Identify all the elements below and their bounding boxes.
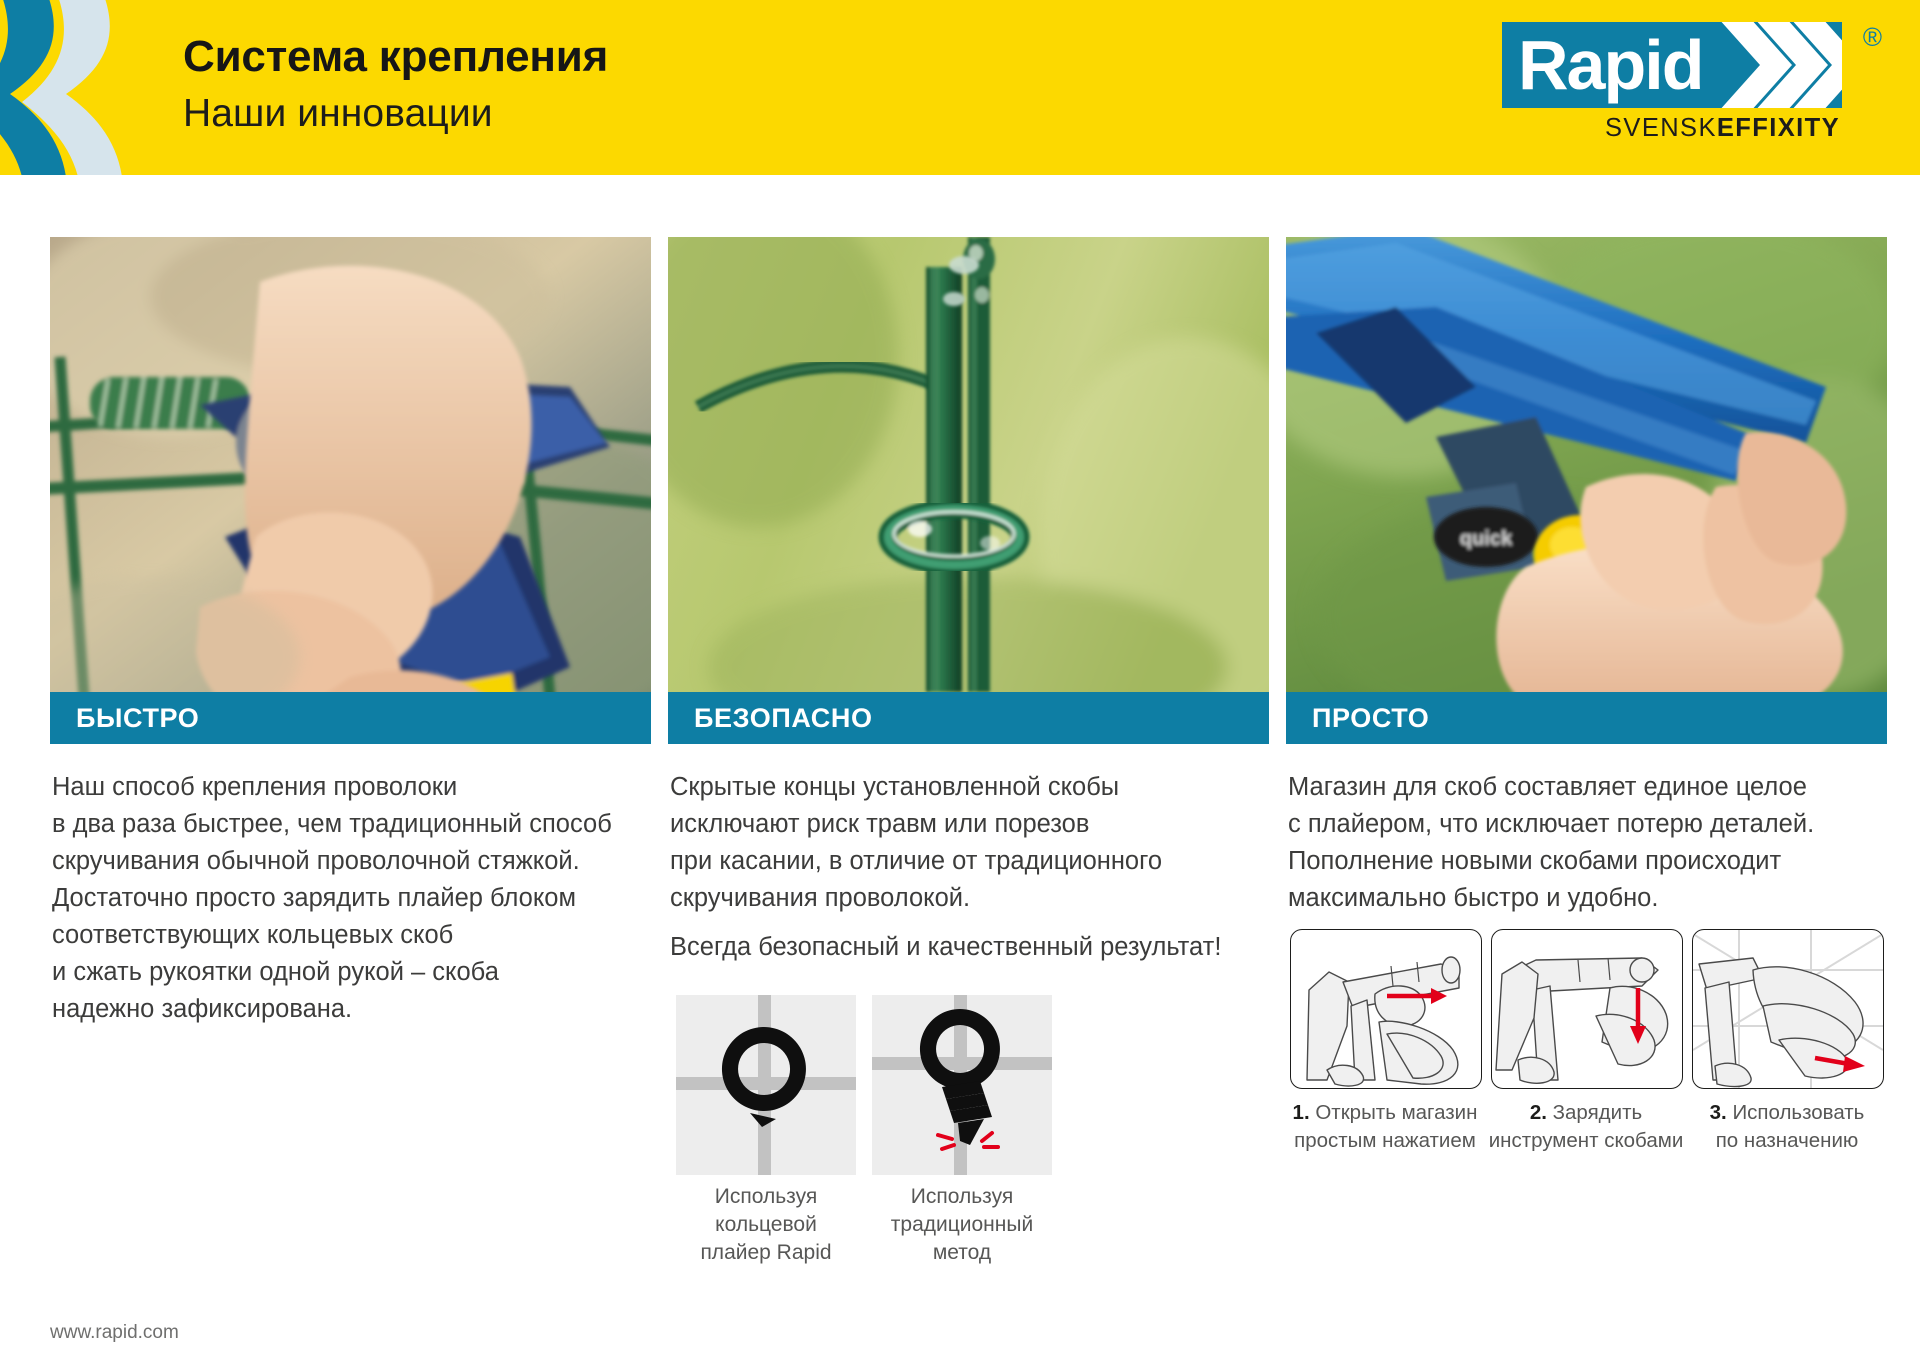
rapid-logo-box: Rapid <box>1502 22 1842 108</box>
svg-text:quick: quick <box>1460 528 1513 550</box>
body-text-fast: Наш способ крепления проволокив два раза… <box>52 769 648 1028</box>
body-paragraph-easy: Магазин для скоб составляет единое целое… <box>1288 769 1884 917</box>
rapid-logo-tagline: SVENSKEFFIXITY <box>1605 114 1840 143</box>
rapid-logo: Rapid ® SVENSKEFFIXITY <box>1482 22 1902 157</box>
diagram-caption-rapid: Используя кольцевойплайер Rapid <box>666 1183 866 1267</box>
caption-label-fast: БЫСТРО <box>76 703 199 734</box>
statement-safe: Всегда безопасный и качественный результ… <box>670 929 1270 966</box>
body-paragraph-safe: Скрытые концы установленной скобыисключа… <box>670 769 1266 917</box>
step-number-2: 2. <box>1530 1101 1547 1124</box>
tagline-effixity: EFFIXITY <box>1717 114 1840 142</box>
photo-fast <box>50 237 651 692</box>
rapid-r-mark-icon <box>0 0 210 175</box>
photo-easy: quick <box>1286 237 1887 692</box>
photo-safe-image <box>668 237 1269 692</box>
step-caption-3: 3. Использоватьпо назначению <box>1689 1099 1885 1155</box>
caption-label-safe: БЕЗОПАСНО <box>694 703 873 734</box>
page-subtitle: Наши инновации <box>183 92 493 136</box>
step-text-2: Зарядитьинструмент скобами <box>1489 1101 1684 1152</box>
open-magazine-illustration <box>1291 930 1481 1088</box>
caption-bar-fast: БЫСТРО <box>50 692 651 744</box>
page-title: Система крепления <box>183 32 608 82</box>
diagram-box-rapid <box>676 995 856 1175</box>
load-staples-illustration <box>1492 930 1682 1088</box>
step-number-3: 3. <box>1710 1101 1727 1124</box>
body-text-easy: Магазин для скоб составляет единое целое… <box>1288 769 1884 917</box>
caption-bar-easy: ПРОСТО <box>1286 692 1887 744</box>
step-caption-2: 2. Зарядитьинструмент скобами <box>1488 1099 1684 1155</box>
rapid-logo-wordmark: Rapid <box>1518 23 1702 107</box>
body-paragraph-fast: Наш способ крепления проволокив два раза… <box>52 769 648 1028</box>
use-tool-illustration <box>1693 930 1883 1088</box>
statement-text-safe: Всегда безопасный и качественный результ… <box>670 933 1221 961</box>
step-caption-1: 1. Открыть магазинпростым нажатием <box>1287 1099 1483 1155</box>
step-number-1: 1. <box>1293 1101 1310 1124</box>
step-text-1: Открыть магазинпростым нажатием <box>1294 1101 1477 1152</box>
rapid-logo-chevrons-icon <box>1706 22 1842 108</box>
step-box-3 <box>1692 929 1884 1089</box>
step-box-1 <box>1290 929 1482 1089</box>
step-box-2 <box>1491 929 1683 1089</box>
footer-url[interactable]: www.rapid.com <box>50 1322 179 1344</box>
caption-bar-safe: БЕЗОПАСНО <box>668 692 1269 744</box>
photo-safe <box>668 237 1269 692</box>
tagline-svensk: SVENSK <box>1605 114 1717 142</box>
photo-fast-image <box>50 237 651 692</box>
diagram-caption-traditional: Используятрадиционный метод <box>862 1183 1062 1267</box>
caption-label-easy: ПРОСТО <box>1312 703 1429 734</box>
step-text-3: Использоватьпо назначению <box>1716 1101 1865 1152</box>
page-header: Система крепления Наши инновации Rapid ®… <box>0 0 1920 175</box>
clean-ring-clip-icon <box>676 995 856 1175</box>
diagram-box-traditional <box>872 995 1052 1175</box>
body-text-safe: Скрытые концы установленной скобыисключа… <box>670 769 1266 917</box>
photo-easy-image: quick <box>1286 237 1887 692</box>
registered-trademark-icon: ® <box>1863 22 1882 53</box>
twisted-wire-sharp-ends-icon <box>872 995 1052 1175</box>
